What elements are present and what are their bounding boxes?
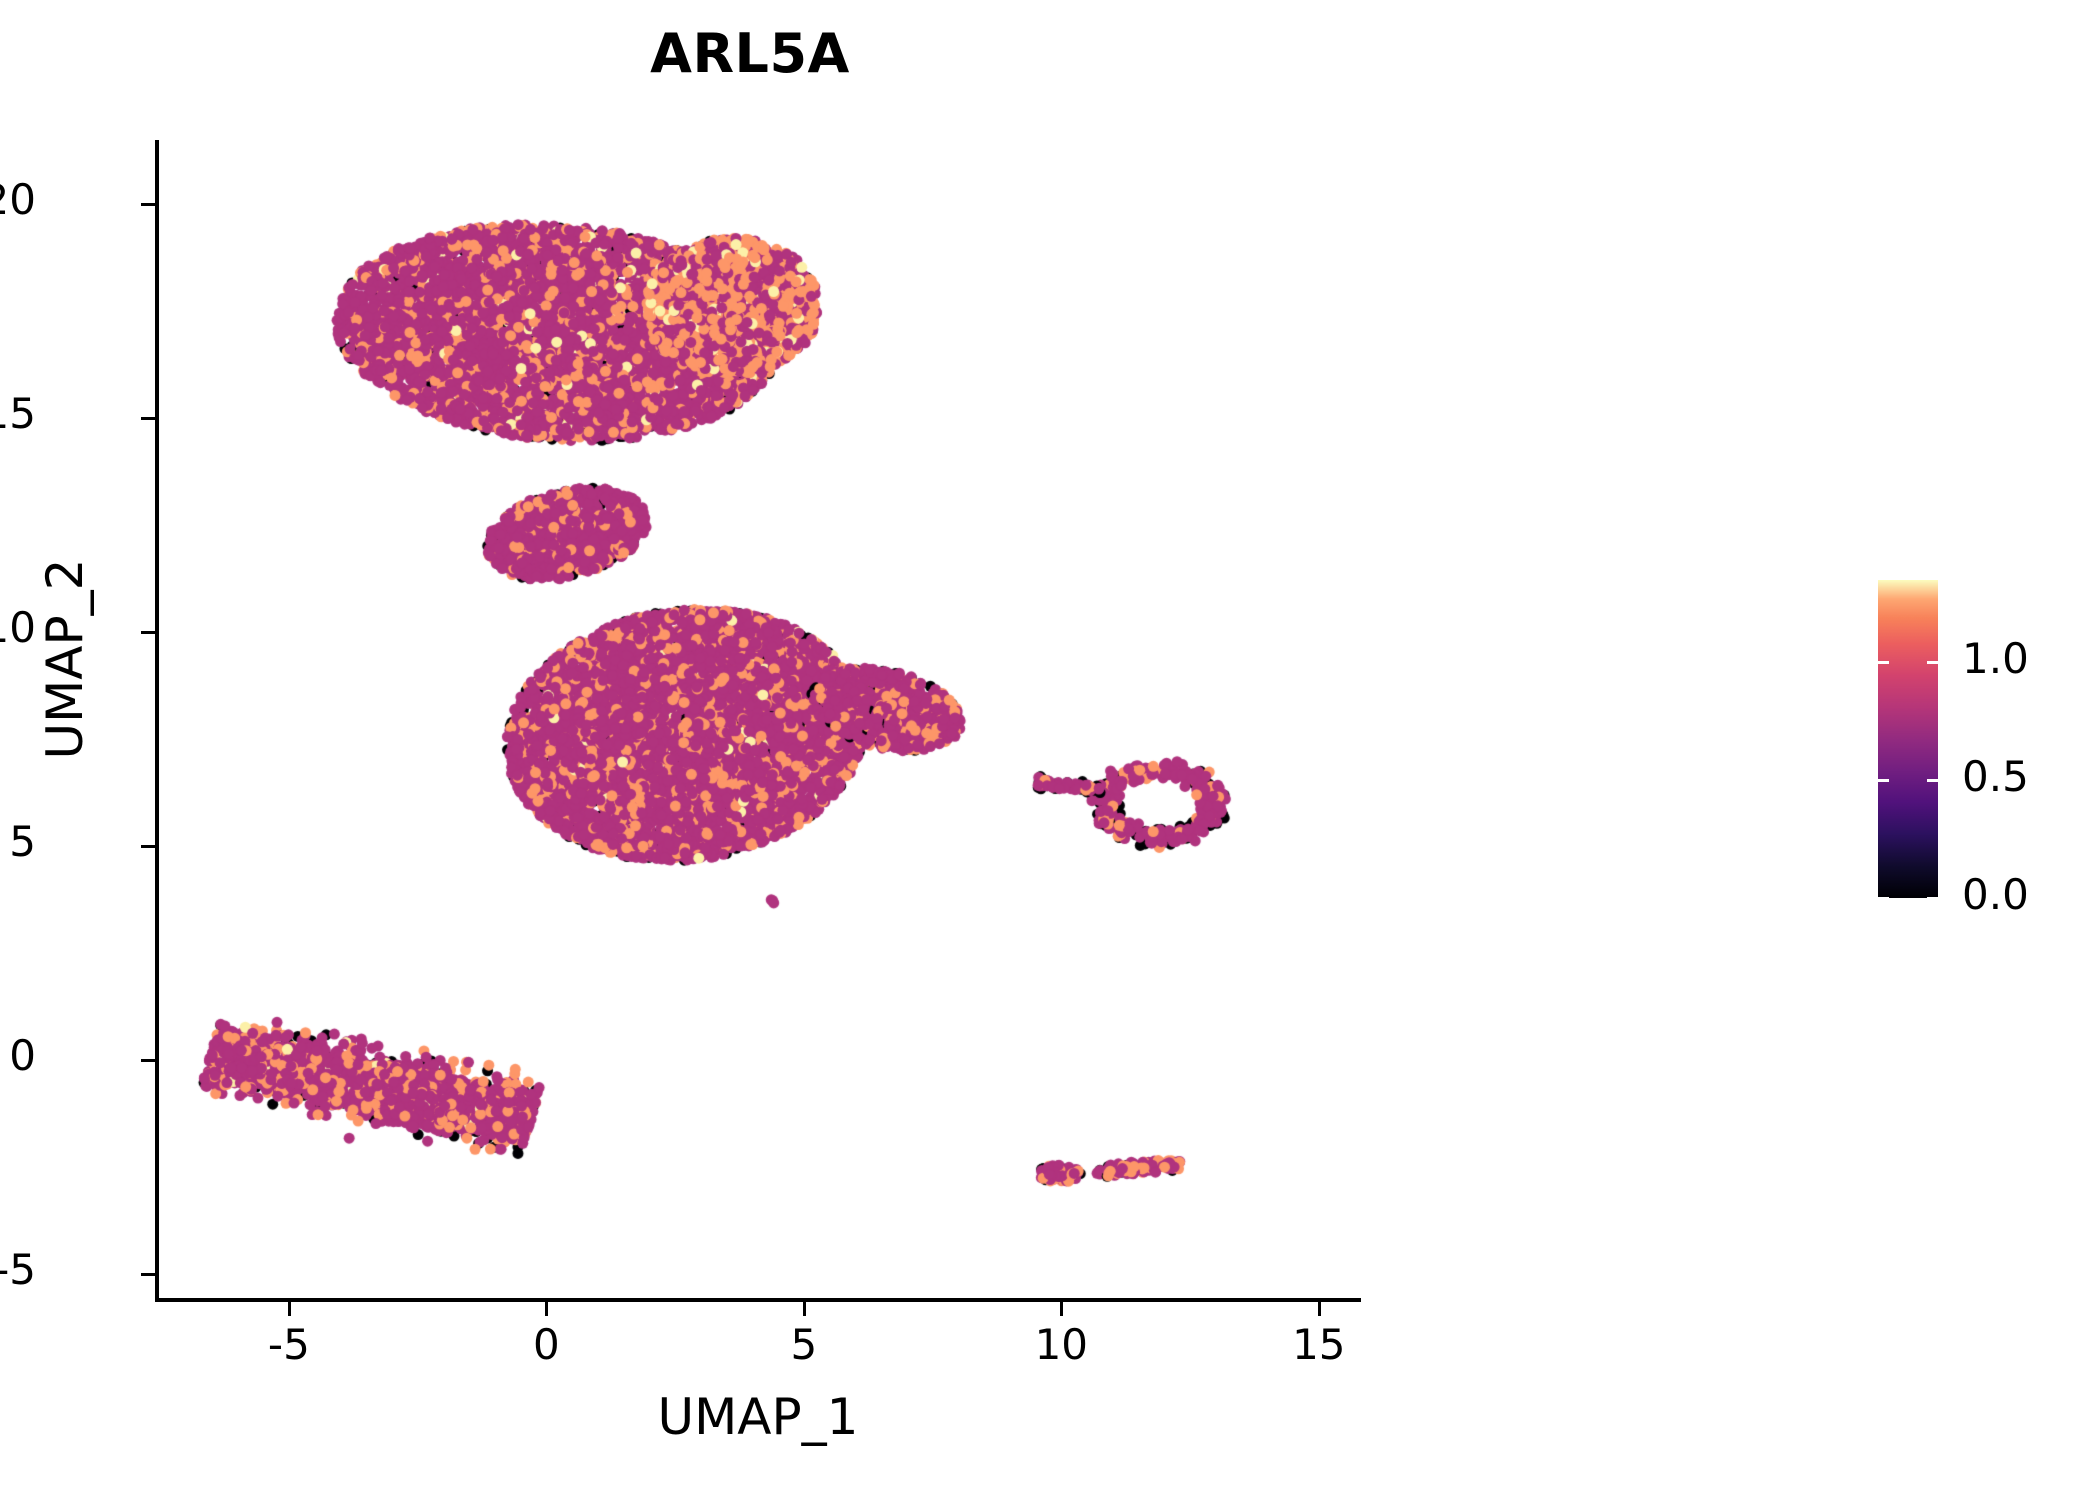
y-tick-label-0: 0 [9, 1031, 36, 1080]
colorbar-label-0.5: 0.5 [1962, 752, 2029, 801]
colorbar-tick-0.0-right [1927, 897, 1938, 900]
y-tick-label-10: 10 [0, 603, 36, 652]
x-tick--5 [288, 1302, 291, 1316]
x-tick-0 [545, 1302, 548, 1316]
umap-feature-plot-figure: ARL5A -505101520 -5051015 UMAP_2 UMAP_1 … [0, 0, 2100, 1500]
scatter-points-canvas [155, 140, 1360, 1300]
colorbar-tick-1.0-left [1878, 661, 1889, 664]
y-tick-20 [141, 203, 155, 206]
y-tick-15 [141, 417, 155, 420]
x-axis-spine [155, 1298, 1361, 1302]
colorbar-gradient [1878, 580, 1938, 898]
x-axis-label: UMAP_1 [155, 1388, 1361, 1446]
x-tick-5 [803, 1302, 806, 1316]
y-tick-10 [141, 631, 155, 634]
y-tick-label-15: 15 [0, 389, 36, 438]
colorbar-tick-0.5-right [1927, 779, 1938, 782]
x-tick-15 [1318, 1302, 1321, 1316]
y-tick-0 [141, 1059, 155, 1062]
x-tick-label--5: -5 [189, 1320, 389, 1369]
y-tick-5 [141, 845, 155, 848]
x-tick-label-15: 15 [1219, 1320, 1419, 1369]
y-tick-label--5: -5 [0, 1245, 36, 1294]
y-tick-label-20: 20 [0, 175, 36, 224]
colorbar-tick-1.0-right [1927, 661, 1938, 664]
y-axis-label: UMAP_2 [36, 409, 94, 909]
y-axis-spine [155, 140, 159, 1302]
x-tick-label-0: 0 [446, 1320, 646, 1369]
colorbar-label-1.0: 1.0 [1962, 634, 2029, 683]
y-tick--5 [141, 1273, 155, 1276]
colorbar-tick-0.5-left [1878, 779, 1889, 782]
page-title: ARL5A [0, 22, 1500, 85]
colorbar-tick-0.0-left [1878, 897, 1889, 900]
x-tick-10 [1060, 1302, 1063, 1316]
colorbar [1878, 580, 1938, 898]
x-tick-label-5: 5 [704, 1320, 904, 1369]
x-tick-label-10: 10 [961, 1320, 1161, 1369]
plot-axes-area [155, 140, 1360, 1300]
y-tick-label-5: 5 [9, 817, 36, 866]
colorbar-label-0.0: 0.0 [1962, 870, 2029, 919]
